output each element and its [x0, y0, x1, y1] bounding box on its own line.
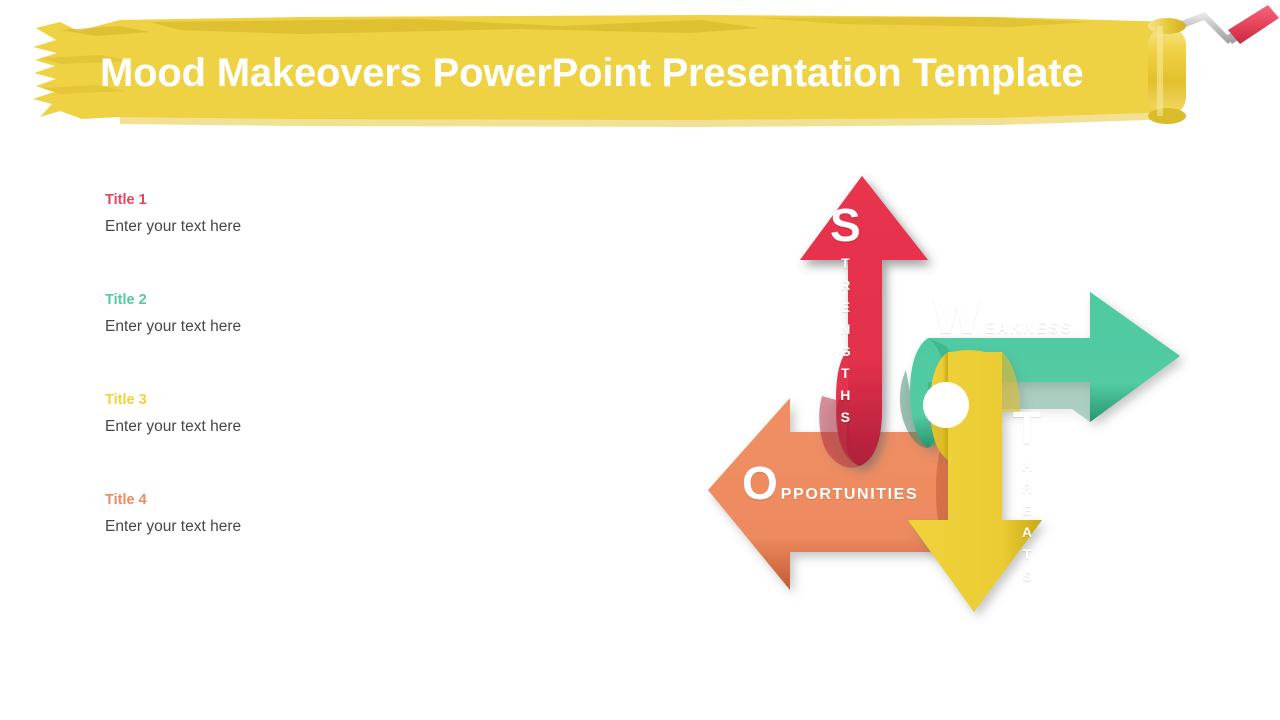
- slide: Mood Makeovers PowerPoint Presentation T…: [0, 0, 1280, 720]
- page-title: Mood Makeovers PowerPoint Presentation T…: [100, 48, 1170, 98]
- left-text-list: Title 1 Enter your text here Title 2 Ent…: [105, 190, 505, 590]
- block-title-4: Title 4: [105, 490, 505, 510]
- text-block-3[interactable]: Title 3 Enter your text here: [105, 390, 505, 438]
- block-body-4[interactable]: Enter your text here: [105, 516, 505, 538]
- swot-diagram: S T R E N G T H S W EAKNESS O PPORTUNITI…: [690, 160, 1190, 670]
- block-title-3: Title 3: [105, 390, 505, 410]
- text-block-1[interactable]: Title 1 Enter your text here: [105, 190, 505, 238]
- header-banner: Mood Makeovers PowerPoint Presentation T…: [0, 0, 1280, 140]
- block-title-1: Title 1: [105, 190, 505, 210]
- text-block-2[interactable]: Title 2 Enter your text here: [105, 290, 505, 338]
- center-gap: [923, 382, 969, 428]
- swot-arrows-graphic: [690, 160, 1190, 670]
- text-block-4[interactable]: Title 4 Enter your text here: [105, 490, 505, 538]
- block-title-2: Title 2: [105, 290, 505, 310]
- block-body-3[interactable]: Enter your text here: [105, 416, 505, 438]
- block-body-2[interactable]: Enter your text here: [105, 316, 505, 338]
- block-body-1[interactable]: Enter your text here: [105, 216, 505, 238]
